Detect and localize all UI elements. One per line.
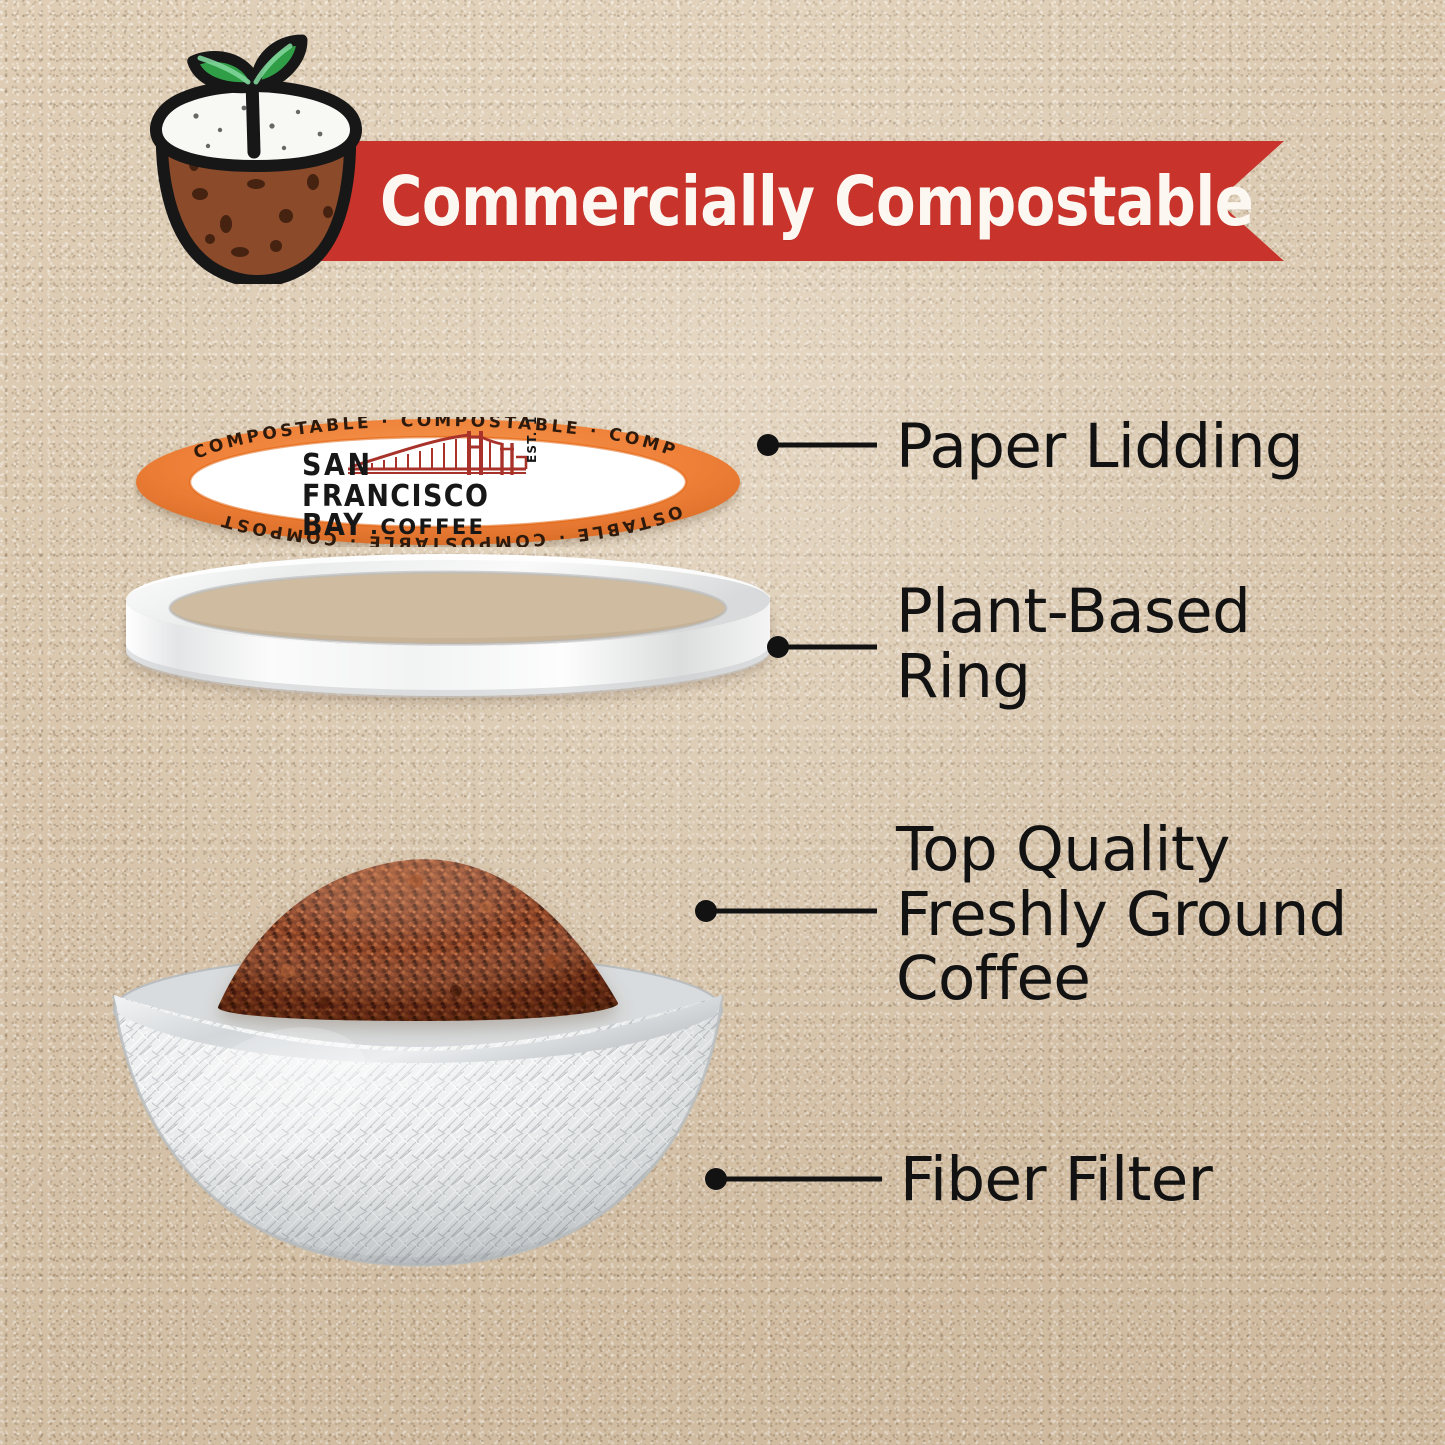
callout-paper-lidding-label: Paper Lidding (896, 415, 1303, 480)
callout-plant-based-ring-label: Plant-Based Ring (896, 580, 1250, 709)
callout-paper-lidding: Paper Lidding (896, 415, 1416, 493)
leader-top-quality-coffee (695, 900, 877, 922)
callout-top-quality-coffee-label: Top Quality Freshly Ground Coffee (896, 818, 1347, 1012)
infographic-canvas: Commercially Compostable (0, 0, 1445, 1445)
callout-plant-based-ring: Plant-Based Ring (896, 580, 1416, 730)
leader-plant-based-ring (767, 636, 877, 658)
leader-fiber-filter (705, 1168, 882, 1190)
callout-fiber-filter: Fiber Filter (900, 1148, 1420, 1226)
callout-top-quality-coffee: Top Quality Freshly Ground Coffee (896, 818, 1416, 1033)
callout-fiber-filter-label: Fiber Filter (900, 1148, 1212, 1213)
leader-paper-lidding (757, 434, 877, 456)
